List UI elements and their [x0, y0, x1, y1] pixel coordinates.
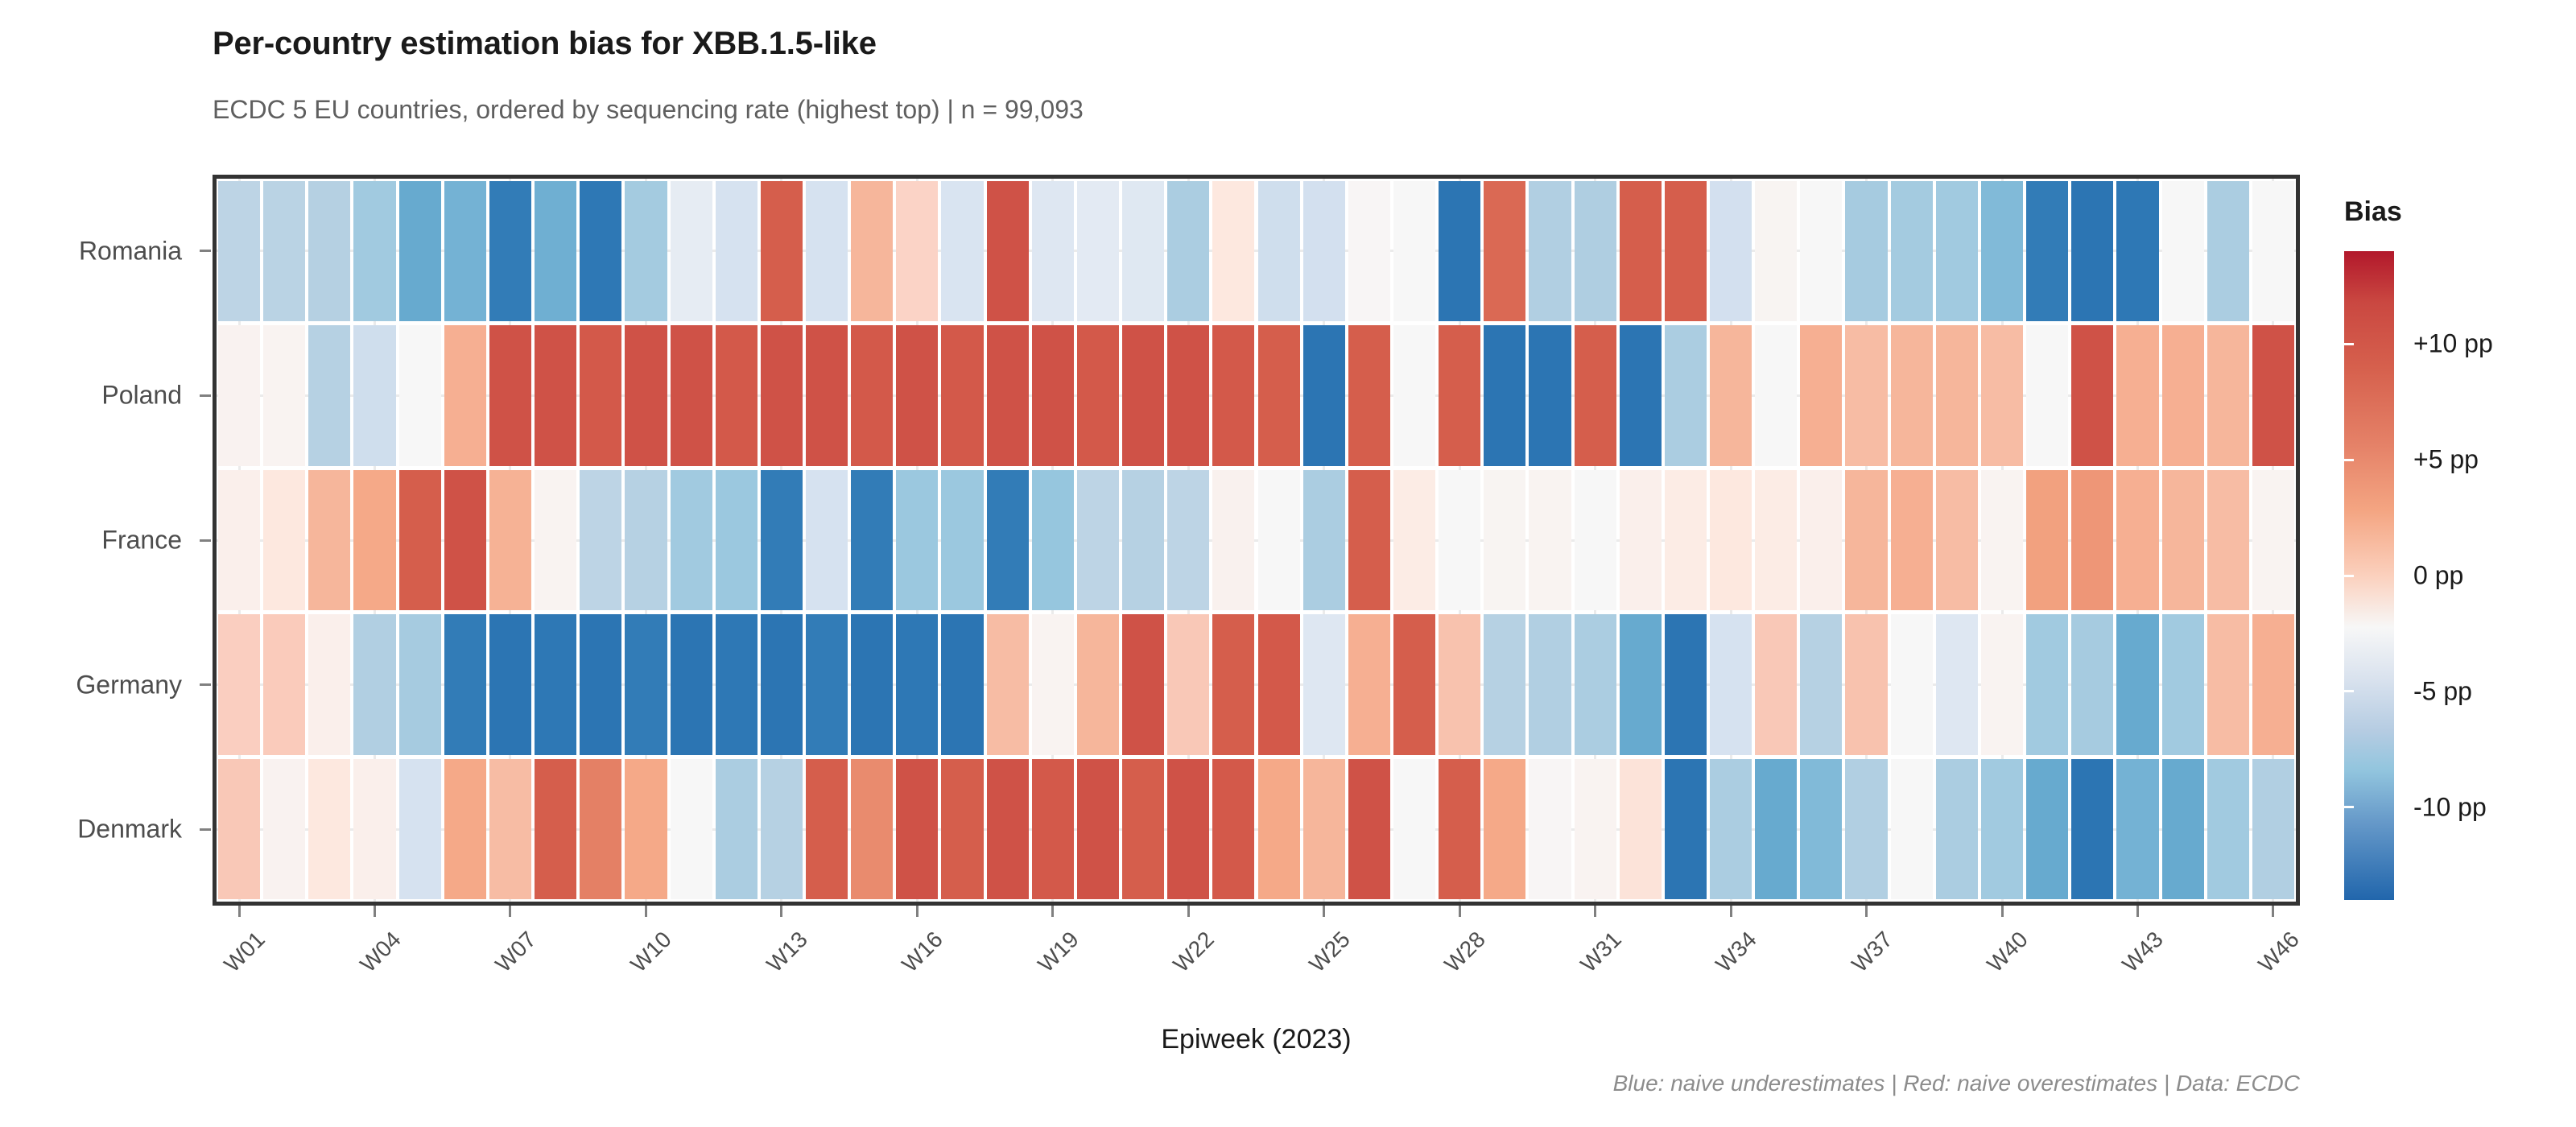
heatmap-cell[interactable] [1710, 325, 1752, 466]
heatmap-cell[interactable] [1936, 759, 1978, 900]
heatmap-cell[interactable] [263, 470, 305, 611]
heatmap-cell[interactable] [1710, 614, 1752, 755]
heatmap-cell[interactable] [1303, 325, 1345, 466]
heatmap-cell[interactable] [1575, 614, 1616, 755]
heatmap-cell[interactable] [1032, 614, 1074, 755]
heatmap-cell[interactable] [535, 470, 576, 611]
heatmap-cell[interactable] [671, 325, 712, 466]
heatmap-cell[interactable] [263, 325, 305, 466]
heatmap-cell[interactable] [987, 470, 1029, 611]
heatmap-cell[interactable] [2207, 614, 2249, 755]
heatmap-cell[interactable] [1981, 325, 2023, 466]
heatmap-cell[interactable] [716, 614, 758, 755]
heatmap-cell[interactable] [1348, 614, 1390, 755]
x-axis-tick [238, 906, 241, 917]
heatmap-cell[interactable] [896, 470, 938, 611]
x-axis-label: W16 [839, 927, 948, 1036]
heatmap-cell[interactable] [1981, 614, 2023, 755]
heatmap-cell[interactable] [761, 181, 803, 322]
heatmap-cell[interactable] [761, 325, 803, 466]
heatmap-cell[interactable] [1212, 614, 1254, 755]
chart-root: Per-country estimation bias for XBB.1.5-… [0, 0, 2576, 1127]
heatmap-cell[interactable] [399, 325, 441, 466]
heatmap-cell[interactable] [716, 470, 758, 611]
heatmap-cell[interactable] [444, 614, 486, 755]
heatmap-cell[interactable] [2252, 614, 2294, 755]
heatmap-cell[interactable] [1077, 181, 1119, 322]
y-axis-label: Poland [101, 381, 182, 411]
heatmap-cell[interactable] [1755, 759, 1797, 900]
heatmap-cell[interactable] [1620, 325, 1662, 466]
legend-tick-mark [2344, 459, 2354, 461]
heatmap-cell[interactable] [2252, 759, 2294, 900]
x-axis-label: W25 [1246, 927, 1356, 1036]
heatmap-cell[interactable] [1484, 614, 1525, 755]
legend-tick-label: +5 pp [2413, 445, 2479, 475]
legend-tick-mark [2344, 343, 2354, 345]
heatmap-cell[interactable] [580, 181, 621, 322]
heatmap-cell[interactable] [1393, 470, 1435, 611]
heatmap-cell[interactable] [1439, 614, 1480, 755]
heatmap-cell[interactable] [2026, 470, 2068, 611]
heatmap-cell[interactable] [1032, 181, 1074, 322]
heatmap-cell[interactable] [1439, 181, 1480, 322]
heatmap-cell[interactable] [625, 470, 667, 611]
heatmap-cell[interactable] [1439, 759, 1480, 900]
heatmap-cell[interactable] [2116, 325, 2158, 466]
heatmap-cells [217, 179, 2296, 902]
x-axis-label: W19 [975, 927, 1084, 1036]
legend-tick-mark [2344, 806, 2354, 808]
heatmap-cell[interactable] [761, 614, 803, 755]
heatmap-cell[interactable] [1891, 181, 1933, 322]
heatmap-cell[interactable] [2162, 181, 2204, 322]
heatmap-cell[interactable] [1800, 759, 1842, 900]
heatmap-cell[interactable] [353, 181, 395, 322]
heatmap-cell[interactable] [1122, 614, 1164, 755]
x-axis-tick [645, 906, 647, 917]
legend-tick-mark [2344, 575, 2354, 577]
heatmap-cell[interactable] [761, 470, 803, 611]
x-axis-label: W34 [1653, 927, 1762, 1036]
heatmap-cell[interactable] [1620, 470, 1662, 611]
heatmap-cell[interactable] [1167, 759, 1209, 900]
heatmap-cell[interactable] [1936, 470, 1978, 611]
x-axis-tick [374, 906, 376, 917]
heatmap-cell[interactable] [580, 325, 621, 466]
heatmap-cell[interactable] [1393, 759, 1435, 900]
heatmap-cell[interactable] [2116, 759, 2158, 900]
legend-tick-mark [2334, 343, 2344, 345]
heatmap-cell[interactable] [851, 614, 893, 755]
heatmap-cell[interactable] [851, 181, 893, 322]
heatmap-cell[interactable] [1981, 181, 2023, 322]
heatmap-cell[interactable] [308, 325, 350, 466]
heatmap-cell[interactable] [308, 759, 350, 900]
heatmap-cell[interactable] [896, 614, 938, 755]
heatmap-cell[interactable] [535, 614, 576, 755]
heatmap-cell[interactable] [263, 614, 305, 755]
x-axis-tick [2001, 906, 2004, 917]
heatmap-cell[interactable] [1393, 325, 1435, 466]
heatmap-cell[interactable] [1620, 614, 1662, 755]
x-axis-tick [1459, 906, 1461, 917]
legend-tick-label: +10 pp [2413, 329, 2493, 359]
heatmap-cell[interactable] [1800, 470, 1842, 611]
heatmap-cell[interactable] [1755, 325, 1797, 466]
heatmap-cell[interactable] [1800, 614, 1842, 755]
heatmap-cell[interactable] [1484, 325, 1525, 466]
heatmap-cell[interactable] [444, 470, 486, 611]
x-axis-tick [2272, 906, 2274, 917]
x-axis-label: W10 [568, 927, 677, 1036]
heatmap-cell[interactable] [987, 614, 1029, 755]
x-axis-tick [1323, 906, 1325, 917]
heatmap-cell[interactable] [1575, 181, 1616, 322]
heatmap-cell[interactable] [2162, 325, 2204, 466]
heatmap-cell[interactable] [2116, 181, 2158, 322]
heatmap-cell[interactable] [896, 759, 938, 900]
heatmap-cell[interactable] [1258, 470, 1300, 611]
heatmap-cell[interactable] [671, 181, 712, 322]
heatmap-cell[interactable] [671, 470, 712, 611]
heatmap-cell[interactable] [399, 181, 441, 322]
heatmap-cell[interactable] [1936, 181, 1978, 322]
heatmap-cell[interactable] [2252, 181, 2294, 322]
heatmap-cell[interactable] [580, 470, 621, 611]
heatmap-cell[interactable] [1484, 181, 1525, 322]
heatmap-cell[interactable] [489, 470, 531, 611]
y-axis-tick [200, 394, 211, 397]
chart-caption: Blue: naive underestimates | Red: naive … [1613, 1071, 2300, 1096]
heatmap-cell[interactable] [1529, 325, 1571, 466]
heatmap-cell[interactable] [1212, 325, 1254, 466]
heatmap-cell[interactable] [1122, 325, 1164, 466]
heatmap-cell[interactable] [1710, 470, 1752, 611]
heatmap-cell[interactable] [1348, 759, 1390, 900]
heatmap-cell[interactable] [1710, 181, 1752, 322]
heatmap-cell[interactable] [1665, 470, 1707, 611]
legend-tick-label: -5 pp [2413, 676, 2472, 706]
legend-tick-mark [2334, 806, 2344, 808]
heatmap-cell[interactable] [1167, 325, 1209, 466]
legend-tick-label: 0 pp [2413, 561, 2463, 591]
heatmap-cell[interactable] [263, 181, 305, 322]
x-axis-label: W07 [432, 927, 542, 1036]
heatmap-cell[interactable] [2162, 470, 2204, 611]
heatmap-cell[interactable] [1665, 759, 1707, 900]
heatmap-cell[interactable] [1348, 181, 1390, 322]
heatmap-cell[interactable] [2071, 325, 2113, 466]
heatmap-cell[interactable] [308, 470, 350, 611]
heatmap-cell[interactable] [1122, 470, 1164, 611]
legend-title: Bias [2344, 196, 2402, 228]
heatmap-cell[interactable] [308, 181, 350, 322]
heatmap-cell[interactable] [896, 181, 938, 322]
heatmap-cell[interactable] [806, 614, 848, 755]
heatmap-cell[interactable] [1484, 470, 1525, 611]
y-axis-label: Denmark [77, 815, 182, 844]
heatmap-cell[interactable] [1575, 470, 1616, 611]
heatmap-cell[interactable] [716, 181, 758, 322]
heatmap-cell[interactable] [535, 325, 576, 466]
x-axis-tick [1865, 906, 1868, 917]
x-axis-tick [1187, 906, 1190, 917]
legend-tick-mark [2334, 690, 2344, 692]
heatmap-cell[interactable] [851, 759, 893, 900]
heatmap-cell[interactable] [1258, 181, 1300, 322]
heatmap-cell[interactable] [1755, 614, 1797, 755]
heatmap-cell[interactable] [1348, 470, 1390, 611]
heatmap-cell[interactable] [2026, 759, 2068, 900]
y-axis-tick [200, 250, 211, 252]
heatmap-cell[interactable] [2252, 325, 2294, 466]
heatmap-cell[interactable] [1393, 181, 1435, 322]
heatmap-cell[interactable] [1710, 759, 1752, 900]
heatmap-cell[interactable] [2162, 759, 2204, 900]
heatmap-cell[interactable] [1077, 614, 1119, 755]
heatmap-cell[interactable] [218, 470, 260, 611]
heatmap-cell[interactable] [399, 470, 441, 611]
heatmap-cell[interactable] [941, 470, 983, 611]
heatmap-cell[interactable] [625, 614, 667, 755]
heatmap-cell[interactable] [2116, 470, 2158, 611]
heatmap-cell[interactable] [2071, 614, 2113, 755]
heatmap-cell[interactable] [1348, 325, 1390, 466]
heatmap-cell[interactable] [716, 759, 758, 900]
heatmap-cell[interactable] [535, 759, 576, 900]
heatmap-cell[interactable] [444, 181, 486, 322]
heatmap-cell[interactable] [308, 614, 350, 755]
legend-tick-mark [2334, 459, 2344, 461]
heatmap-cell[interactable] [1122, 181, 1164, 322]
heatmap-cell[interactable] [1077, 325, 1119, 466]
heatmap-cell[interactable] [1484, 759, 1525, 900]
x-axis-tick [509, 906, 511, 917]
heatmap-cell[interactable] [896, 325, 938, 466]
heatmap-cell[interactable] [761, 759, 803, 900]
y-axis-label: France [101, 526, 182, 555]
page-subtitle: ECDC 5 EU countries, ordered by sequenci… [213, 95, 1084, 125]
heatmap-cell[interactable] [1800, 181, 1842, 322]
heatmap-cell[interactable] [2207, 470, 2249, 611]
y-axis-tick [200, 683, 211, 686]
heatmap-cell[interactable] [2071, 470, 2113, 611]
heatmap-cell[interactable] [625, 325, 667, 466]
heatmap-cell[interactable] [2071, 181, 2113, 322]
heatmap-cell[interactable] [671, 614, 712, 755]
heatmap-cell[interactable] [353, 614, 395, 755]
heatmap-cell[interactable] [580, 759, 621, 900]
heatmap-cell[interactable] [2026, 614, 2068, 755]
heatmap-cell[interactable] [1620, 759, 1662, 900]
heatmap-cell[interactable] [444, 759, 486, 900]
heatmap-cell[interactable] [1845, 470, 1887, 611]
heatmap-cell[interactable] [806, 325, 848, 466]
x-axis-label: W28 [1381, 927, 1491, 1036]
heatmap-cell[interactable] [218, 614, 260, 755]
heatmap-cell[interactable] [1303, 181, 1345, 322]
heatmap-cell[interactable] [1258, 614, 1300, 755]
heatmap-cell[interactable] [489, 181, 531, 322]
heatmap-cell[interactable] [218, 181, 260, 322]
x-axis-title: Epiweek (2023) [0, 1024, 2512, 1055]
heatmap-cell[interactable] [2026, 325, 2068, 466]
x-axis-tick [780, 906, 782, 917]
x-axis-tick [916, 906, 919, 917]
heatmap-cell[interactable] [218, 759, 260, 900]
heatmap-cell[interactable] [1439, 325, 1480, 466]
heatmap-cell[interactable] [1755, 181, 1797, 322]
heatmap-cell[interactable] [399, 759, 441, 900]
x-axis-label: W37 [1788, 927, 1897, 1036]
heatmap-cell[interactable] [806, 181, 848, 322]
heatmap-cell[interactable] [1575, 325, 1616, 466]
heatmap-cell[interactable] [625, 759, 667, 900]
x-axis-label: W46 [2195, 927, 2305, 1036]
heatmap-cell[interactable] [671, 759, 712, 900]
heatmap-cell[interactable] [2162, 614, 2204, 755]
x-axis-label: W22 [1110, 927, 1220, 1036]
heatmap-cell[interactable] [716, 325, 758, 466]
y-axis-tick [200, 828, 211, 831]
heatmap-cell[interactable] [1258, 325, 1300, 466]
heatmap-cell[interactable] [1845, 325, 1887, 466]
heatmap-cell[interactable] [1077, 470, 1119, 611]
heatmap-cell[interactable] [941, 759, 983, 900]
heatmap-panel [213, 175, 2300, 906]
heatmap-cell[interactable] [1303, 470, 1345, 611]
heatmap-cell[interactable] [1800, 325, 1842, 466]
legend-tick-label: -10 pp [2413, 792, 2487, 822]
heatmap-cell[interactable] [1529, 759, 1571, 900]
heatmap-cell[interactable] [1122, 759, 1164, 900]
heatmap-cell[interactable] [1981, 759, 2023, 900]
heatmap-cell[interactable] [1529, 614, 1571, 755]
heatmap-cell[interactable] [941, 181, 983, 322]
x-axis-tick [1730, 906, 1732, 917]
heatmap-cell[interactable] [987, 181, 1029, 322]
heatmap-cell[interactable] [1303, 614, 1345, 755]
heatmap-cell[interactable] [1393, 614, 1435, 755]
heatmap-cell[interactable] [1575, 759, 1616, 900]
heatmap-cell[interactable] [1167, 181, 1209, 322]
heatmap-cell[interactable] [1212, 470, 1254, 611]
heatmap-cell[interactable] [941, 614, 983, 755]
heatmap-cell[interactable] [2252, 470, 2294, 611]
heatmap-cell[interactable] [1032, 325, 1074, 466]
heatmap-cell[interactable] [1845, 759, 1887, 900]
heatmap-cell[interactable] [851, 470, 893, 611]
heatmap-cell[interactable] [1665, 325, 1707, 466]
heatmap-cell[interactable] [535, 181, 576, 322]
heatmap-cell[interactable] [1303, 759, 1345, 900]
heatmap-cell[interactable] [1032, 470, 1074, 611]
x-axis-label: W40 [1924, 927, 2033, 1036]
heatmap-cell[interactable] [2026, 181, 2068, 322]
heatmap-cell[interactable] [1258, 759, 1300, 900]
heatmap-cell[interactable] [987, 325, 1029, 466]
heatmap-cell[interactable] [1665, 181, 1707, 322]
heatmap-cell[interactable] [1212, 759, 1254, 900]
heatmap-cell[interactable] [1981, 470, 2023, 611]
heatmap-cell[interactable] [489, 614, 531, 755]
heatmap-cell[interactable] [987, 759, 1029, 900]
heatmap-cell[interactable] [444, 325, 486, 466]
heatmap-cell[interactable] [851, 325, 893, 466]
heatmap-cell[interactable] [1891, 325, 1933, 466]
heatmap-cell[interactable] [806, 470, 848, 611]
heatmap-cell[interactable] [353, 325, 395, 466]
heatmap-cell[interactable] [1936, 614, 1978, 755]
y-axis-label: Germany [76, 670, 182, 700]
heatmap-cell[interactable] [218, 325, 260, 466]
heatmap-cell[interactable] [806, 759, 848, 900]
x-axis-label: W31 [1517, 927, 1627, 1036]
heatmap-cell[interactable] [263, 759, 305, 900]
x-axis-label: W01 [161, 927, 270, 1036]
heatmap-cell[interactable] [2207, 181, 2249, 322]
heatmap-cell[interactable] [1167, 470, 1209, 611]
heatmap-cell[interactable] [1032, 759, 1074, 900]
heatmap-cell[interactable] [1529, 470, 1571, 611]
heatmap-cell[interactable] [1167, 614, 1209, 755]
heatmap-cell[interactable] [1845, 181, 1887, 322]
x-axis-tick [1051, 906, 1054, 917]
y-axis-label: Romania [79, 236, 182, 266]
heatmap-cell[interactable] [1755, 470, 1797, 611]
legend-tick-mark [2344, 690, 2354, 692]
x-axis-label: W13 [704, 927, 813, 1036]
heatmap-cell[interactable] [1891, 470, 1933, 611]
page-title: Per-country estimation bias for XBB.1.5-… [213, 26, 877, 62]
heatmap-cell[interactable] [1077, 759, 1119, 900]
heatmap-cell[interactable] [1665, 614, 1707, 755]
heatmap-cell[interactable] [2071, 759, 2113, 900]
heatmap-cell[interactable] [1891, 759, 1933, 900]
heatmap-cell[interactable] [1936, 325, 1978, 466]
x-axis-tick [2136, 906, 2139, 917]
x-axis-label: W04 [296, 927, 406, 1036]
heatmap-cell[interactable] [2116, 614, 2158, 755]
heatmap-cell[interactable] [1212, 181, 1254, 322]
heatmap-cell[interactable] [353, 470, 395, 611]
heatmap-cell[interactable] [489, 325, 531, 466]
heatmap-cell[interactable] [2207, 759, 2249, 900]
x-axis-label: W43 [2059, 927, 2169, 1036]
heatmap-cell[interactable] [1891, 614, 1933, 755]
heatmap-cell[interactable] [580, 614, 621, 755]
heatmap-cell[interactable] [2207, 325, 2249, 466]
heatmap-cell[interactable] [399, 614, 441, 755]
heatmap-cell[interactable] [489, 759, 531, 900]
heatmap-cell[interactable] [625, 181, 667, 322]
legend-tick-mark [2334, 575, 2344, 577]
heatmap-cell[interactable] [1845, 614, 1887, 755]
heatmap-cell[interactable] [941, 325, 983, 466]
heatmap-cell[interactable] [1529, 181, 1571, 322]
y-axis-tick [200, 539, 211, 542]
x-axis-tick [1594, 906, 1596, 917]
heatmap-cell[interactable] [1620, 181, 1662, 322]
heatmap-cell[interactable] [1439, 470, 1480, 611]
heatmap-cell[interactable] [353, 759, 395, 900]
